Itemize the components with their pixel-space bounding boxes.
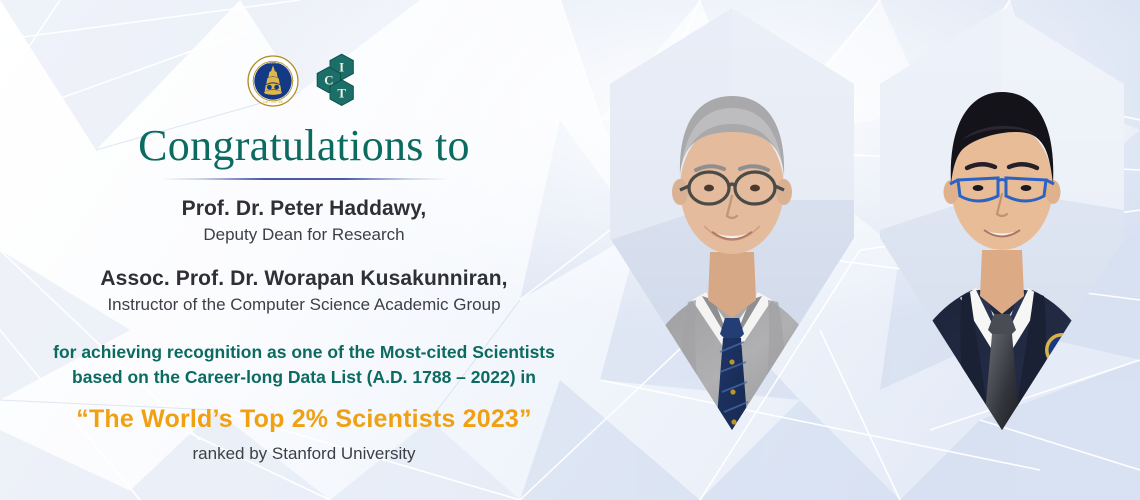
- ict-faculty-logo: I C T: [313, 53, 361, 109]
- mahidol-university-logo: มหิดล มหาวิทยาลัย: [247, 55, 299, 107]
- ict-letter-i: I: [339, 61, 344, 75]
- honoree-1-role: Deputy Dean for Research: [203, 225, 404, 245]
- congratulations-banner: มหิดล มหาวิทยาลัย: [0, 0, 1140, 500]
- mahidol-crest-badge: [1045, 333, 1079, 376]
- achievement-text: for achieving recognition as one of the …: [53, 340, 555, 391]
- hexagon-photo-frame-1: [596, 0, 868, 468]
- award-title: “The World’s Top 2% Scientists 2023”: [76, 405, 531, 434]
- svg-text:มหิดล: มหิดล: [268, 60, 279, 65]
- honoree-1-photo: [596, 0, 868, 468]
- title-divider: [160, 178, 448, 180]
- banner-text-column: มหิดล มหาวิทยาลัย: [0, 0, 608, 500]
- honoree-2-name: Assoc. Prof. Dr. Worapan Kusakunniran,: [100, 267, 507, 291]
- svg-text:มหาวิทยาลัย: มหาวิทยาลัย: [263, 100, 283, 104]
- ranked-by-text: ranked by Stanford University: [193, 444, 416, 464]
- honoree-2-photo: [866, 0, 1138, 468]
- logo-row: มหิดล มหาวิทยาลัย: [247, 52, 361, 110]
- achievement-line-1: for achieving recognition as one of the …: [53, 342, 555, 362]
- hexagon-photo-frame-2: [866, 0, 1138, 468]
- achievement-line-2: based on the Career-long Data List (A.D.…: [53, 365, 555, 390]
- ict-letter-t: T: [337, 86, 346, 100]
- ict-letter-c: C: [324, 74, 333, 88]
- honoree-1-name: Prof. Dr. Peter Haddawy,: [182, 197, 427, 221]
- page-title: Congratulations to: [138, 124, 470, 168]
- honoree-2-role: Instructor of the Computer Science Acade…: [107, 295, 500, 315]
